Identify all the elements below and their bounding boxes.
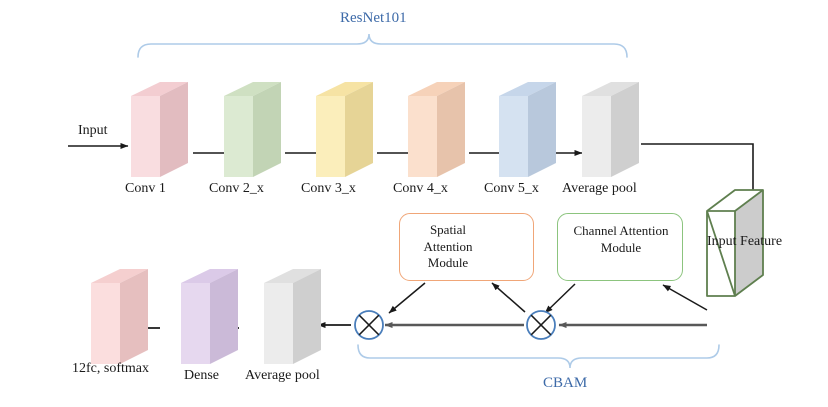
block-label-conv-5x: Conv 5_x <box>484 181 539 197</box>
block-conv-2x <box>224 82 281 177</box>
cbam-title: CBAM <box>543 375 587 392</box>
multiply-operator-right <box>527 311 555 339</box>
block-label-fc-softmax: 12fc, softmax <box>72 361 149 377</box>
channel-module-links <box>545 284 707 313</box>
resnet101-title: ResNet101 <box>340 10 407 27</box>
multiply-operator-left <box>355 311 383 339</box>
diagram-graphics <box>0 0 828 407</box>
spatial-attention-module[interactable]: Spatial Attention Module <box>399 213 534 281</box>
block-label-conv-2x: Conv 2_x <box>209 181 264 197</box>
block-average-pool-top <box>582 82 639 177</box>
channel-attention-module[interactable]: Channel Attention Module <box>557 213 683 281</box>
block-label-conv-4x: Conv 4_x <box>393 181 448 197</box>
block-dense <box>181 269 238 364</box>
input-label: Input <box>78 123 108 139</box>
block-label-dense: Dense <box>184 368 219 384</box>
block-fc-softmax <box>91 269 148 364</box>
resnet-brace <box>138 34 627 57</box>
spatial-module-links <box>389 283 525 313</box>
block-conv-3x <box>316 82 373 177</box>
cbam-brace <box>358 345 719 368</box>
block-conv-4x <box>408 82 465 177</box>
input-feature-label: Input Feature <box>707 234 782 250</box>
block-label-conv-1: Conv 1 <box>125 181 166 197</box>
block-label-conv-3x: Conv 3_x <box>301 181 356 197</box>
diagram-canvas: Spatial Attention Module Channel Attenti… <box>0 0 828 407</box>
block-label-average-pool-top: Average pool <box>562 181 637 197</box>
channel-attention-module-label: Channel Attention Module <box>561 223 681 256</box>
block-average-pool-bottom <box>264 269 321 364</box>
block-label-average-pool-bottom: Average pool <box>245 368 320 384</box>
block-conv-5x <box>499 82 556 177</box>
spatial-attention-module-label: Spatial Attention Module <box>406 222 490 272</box>
block-conv-1 <box>131 82 188 177</box>
